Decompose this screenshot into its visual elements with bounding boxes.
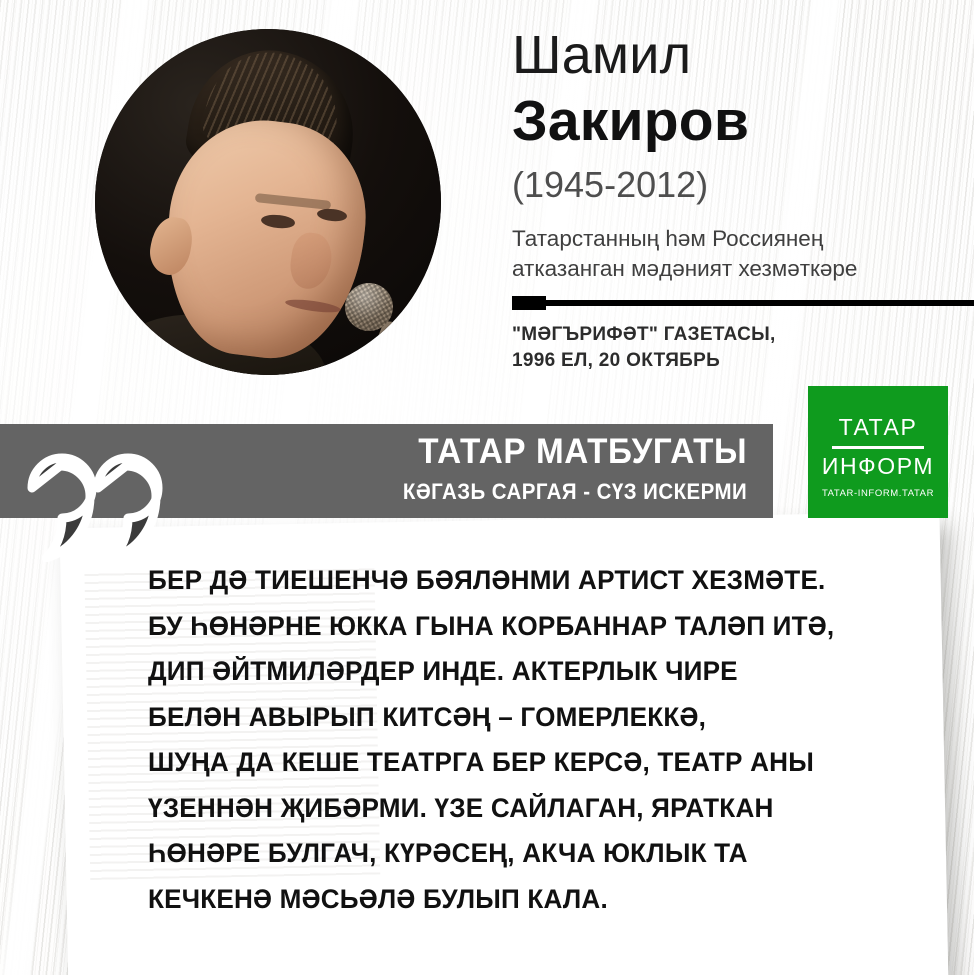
banner-title: ТАТАР МАТБУГАТЫ bbox=[418, 432, 747, 472]
source-citation: "МӘГЪРИФӘТ" ГАЗЕТАСЫ, 1996 ЕЛ, 20 ОКТЯБР… bbox=[512, 322, 964, 374]
quote-line: БУ ҺӨНӘРНЕ ЮККА ГЫНА КОРБАННАР ТАЛӘП ИТӘ… bbox=[148, 604, 926, 650]
banner-subtitle: КӘГАЗЬ САРГАЯ - СҮЗ ИСКЕРМИ bbox=[403, 479, 747, 505]
tatar-inform-logo-inner: ТАТАР ИНФОРМ TATAR-INFORM.TATAR bbox=[808, 416, 948, 499]
person-life-years: (1945-2012) bbox=[512, 163, 964, 206]
logo-line-inform: ИНФОРМ bbox=[808, 455, 948, 478]
logo-divider bbox=[832, 446, 924, 449]
quote-line: БЕР ДӘ ТИЕШЕНЧӘ БӘЯЛӘНМИ АРТИСТ ХЕЗМӘТЕ. bbox=[148, 558, 926, 604]
person-last-name: Закиров bbox=[512, 88, 964, 155]
quote-line: ҮЗЕННӘН ҖИБӘРМИ. ҮЗЕ САЙЛАГАН, ЯРАТКАН bbox=[148, 786, 926, 832]
source-line-1: "МӘГЪРИФӘТ" ГАЗЕТАСЫ, bbox=[512, 322, 964, 348]
quotation-mark-icon bbox=[22, 452, 167, 562]
avatar bbox=[95, 29, 441, 375]
source-line-2: 1996 ЕЛ, 20 ОКТЯБРЬ bbox=[512, 348, 964, 374]
person-header: Шамил Закиров (1945-2012) Татарстанның һ… bbox=[512, 28, 964, 283]
quote-text: БЕР ДӘ ТИЕШЕНЧӘ БӘЯЛӘНМИ АРТИСТ ХЕЗМӘТЕ.… bbox=[148, 558, 938, 922]
person-title-description: Татарстанның һәм Россиянең атказанган мә… bbox=[512, 224, 964, 283]
quote-poster: Шамил Закиров (1945-2012) Татарстанның һ… bbox=[0, 0, 974, 975]
person-title-line-2: атказанган мәдәният хезмәткәре bbox=[512, 254, 964, 283]
quote-line: ДИП ӘЙТМИЛӘРДЕР ИНДЕ. АКТЕРЛЫК ЧИРЕ bbox=[148, 649, 926, 695]
logo-domain-text: TATAR-INFORM.TATAR bbox=[808, 488, 948, 499]
quote-line: БЕЛӘН АВЫРЫП КИТСӘҢ – ГОМЕРЛЕККӘ, bbox=[148, 695, 926, 741]
header-divider bbox=[512, 300, 974, 306]
quote-line: ҺӨНӘРЕ БУЛГАЧ, КҮРӘСЕҢ, АКЧА ЮКЛЫК ТА bbox=[148, 831, 926, 877]
logo-line-tatar: ТАТАР bbox=[808, 416, 948, 439]
quote-line: КЕЧКЕНӘ МӘСЬӘЛӘ БУЛЫП КАЛА. bbox=[148, 877, 926, 923]
tatar-inform-logo[interactable]: ТАТАР ИНФОРМ TATAR-INFORM.TATAR bbox=[808, 386, 948, 518]
quote-line: ШУҢА ДА КЕШЕ ТЕАТРГА БЕР КЕРСӘ, ТЕАТР АН… bbox=[148, 740, 926, 786]
person-title-line-1: Татарстанның һәм Россиянең bbox=[512, 224, 964, 253]
person-first-name: Шамил bbox=[512, 28, 964, 82]
